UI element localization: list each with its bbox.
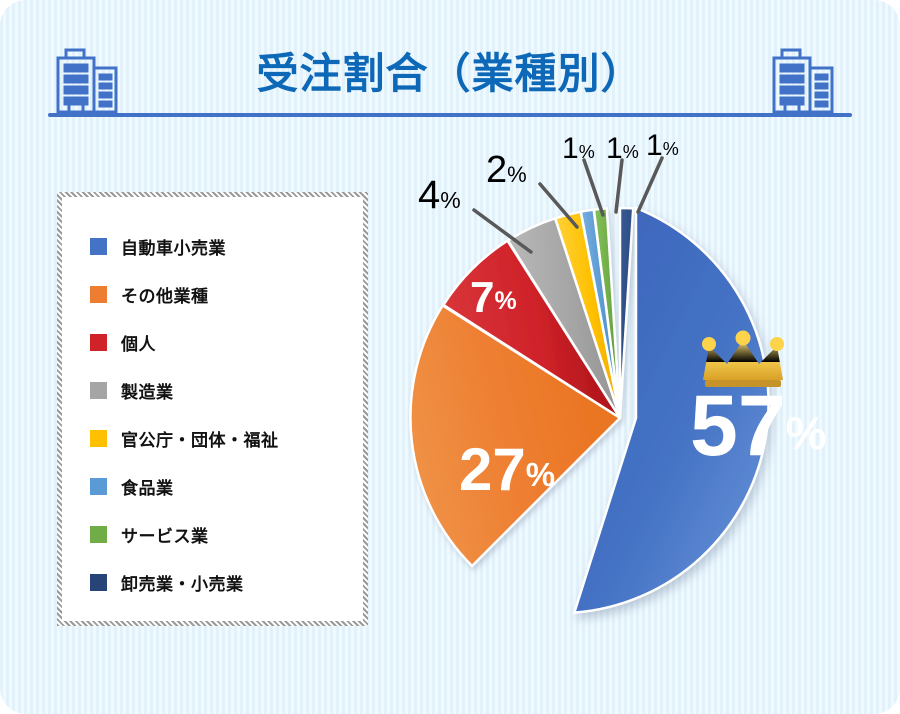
callout-value-1-b: 1% — [606, 132, 639, 165]
legend-swatch-icon — [90, 286, 107, 303]
legend-item-5[interactable]: 食品業 — [90, 462, 368, 510]
legend-item-1[interactable]: その他業種 — [90, 270, 368, 318]
legend-item-label: 製造業 — [121, 378, 174, 403]
legend-swatch-icon — [90, 526, 107, 543]
legend-item-0[interactable]: 自動車小売業 — [90, 222, 368, 270]
pie-slice-wholesale[interactable] — [620, 208, 633, 418]
legend-swatch-icon — [90, 238, 107, 255]
header: 受注割合（業種別） — [0, 0, 900, 125]
legend-swatch-icon — [90, 382, 107, 399]
legend-swatch-icon — [90, 334, 107, 351]
legend-item-3[interactable]: 製造業 — [90, 366, 368, 414]
legend-item-label: 自動車小売業 — [121, 234, 226, 259]
legend-item-7[interactable]: 卸売業・小売業 — [90, 558, 368, 606]
callout-value-1-a: 1% — [562, 132, 595, 165]
slice-value-57: 57% — [690, 378, 827, 474]
legend-swatch-icon — [90, 574, 107, 591]
legend-item-label: サービス業 — [121, 522, 209, 547]
legend-item-label: 卸売業・小売業 — [121, 570, 244, 595]
building-icon — [762, 42, 854, 116]
legend-item-label: 食品業 — [121, 474, 174, 499]
legend-item-2[interactable]: 個人 — [90, 318, 368, 366]
callout-value-1-c: 1% — [646, 130, 679, 162]
legend: 自動車小売業 その他業種 個人 製造業 官公庁・団体・福祉 食品業 サービス業 — [57, 192, 368, 626]
legend-item-4[interactable]: 官公庁・団体・福祉 — [90, 414, 368, 462]
legend-item-label: 個人 — [121, 330, 156, 355]
callout-value-2: 2% — [486, 149, 527, 191]
infographic-canvas: 受注割合（業種別） — [0, 0, 900, 714]
legend-item-label: その他業種 — [121, 282, 209, 307]
legend-item-label: 官公庁・団体・福祉 — [121, 426, 279, 451]
legend-swatch-icon — [90, 478, 107, 495]
legend-item-6[interactable]: サービス業 — [90, 510, 368, 558]
title-divider — [48, 113, 852, 117]
callout-value-4: 4% — [418, 173, 461, 217]
pie-chart: 57% 27% 7% 4% 2% — [390, 130, 890, 690]
legend-swatch-icon — [90, 430, 107, 447]
